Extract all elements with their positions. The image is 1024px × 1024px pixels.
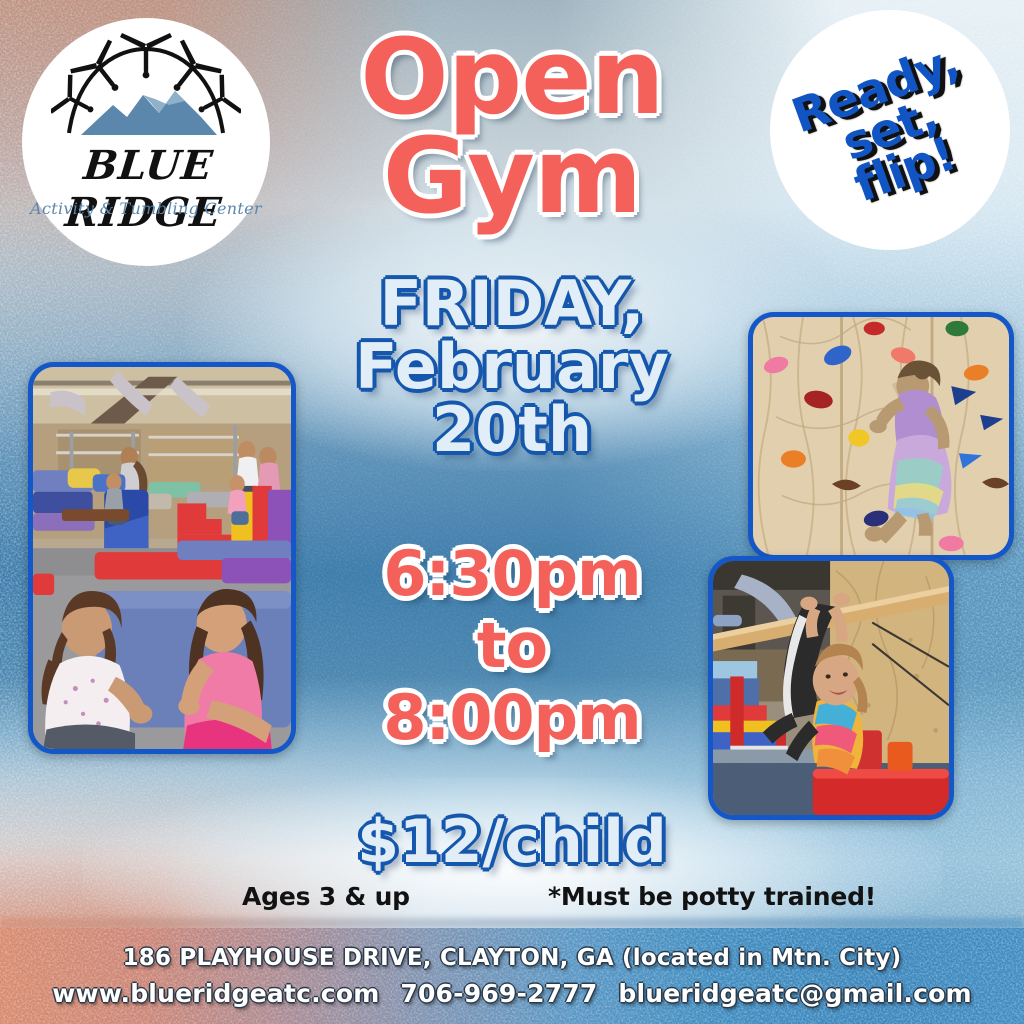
event-time: 6:30pm to 8:00pm <box>260 538 764 754</box>
note-potty-trained: *Must be potty trained! <box>548 882 876 911</box>
time-line-3: 8:00pm <box>260 682 764 754</box>
photo-gym-floor <box>28 362 296 754</box>
logo-name: BLUE RIDGE <box>17 142 275 236</box>
photo-rock-wall-art <box>753 317 1009 555</box>
title-line-2: Gym <box>260 127 764 226</box>
ready-set-flip-text: Ready, set, flip! <box>787 40 993 221</box>
flyer-canvas: BLUE RIDGE Activity & Tumbling Center Re… <box>0 0 1024 1024</box>
notes-row: Ages 3 & up *Must be potty trained! <box>200 882 904 911</box>
time-line-1: 6:30pm <box>260 538 764 610</box>
logo-badge: BLUE RIDGE Activity & Tumbling Center <box>22 18 270 266</box>
photo-bar-hang-art <box>713 561 949 815</box>
footer-phone[interactable]: 706-969-2777 <box>400 979 597 1008</box>
logo-tagline: Activity & Tumbling Center <box>22 199 270 218</box>
note-age-requirement: Ages 3 & up <box>242 882 410 911</box>
page-title: Open Gym <box>260 28 764 226</box>
date-line-2: February <box>250 335 774 398</box>
event-date: FRIDAY, February 20th <box>250 272 774 462</box>
photo-gym-floor-art <box>33 367 291 749</box>
date-line-3: 20th <box>250 398 774 461</box>
gymnast-arch-mountain-icon <box>51 33 241 143</box>
ready-set-flip-badge: Ready, set, flip! <box>770 10 1010 250</box>
event-price: $12/child <box>260 812 764 872</box>
date-line-1: FRIDAY, <box>250 272 774 335</box>
footer-address: 186 PLAYHOUSE DRIVE, CLAYTON, GA (locate… <box>0 945 1024 971</box>
time-line-2: to <box>260 610 764 682</box>
logo-inner: BLUE RIDGE Activity & Tumbling Center <box>22 18 270 266</box>
footer-contact-block: 186 PLAYHOUSE DRIVE, CLAYTON, GA (locate… <box>0 945 1024 1008</box>
footer-contact-line: www.blueridgeatc.com 706-969-2777 blueri… <box>0 979 1024 1008</box>
footer-email[interactable]: blueridgeatc@gmail.com <box>618 979 971 1008</box>
photo-rock-wall <box>748 312 1014 560</box>
photo-bar-hang <box>708 556 954 820</box>
footer-band-edge <box>0 918 1024 928</box>
footer-website[interactable]: www.blueridgeatc.com <box>52 979 379 1008</box>
title-line-1: Open <box>260 28 764 127</box>
